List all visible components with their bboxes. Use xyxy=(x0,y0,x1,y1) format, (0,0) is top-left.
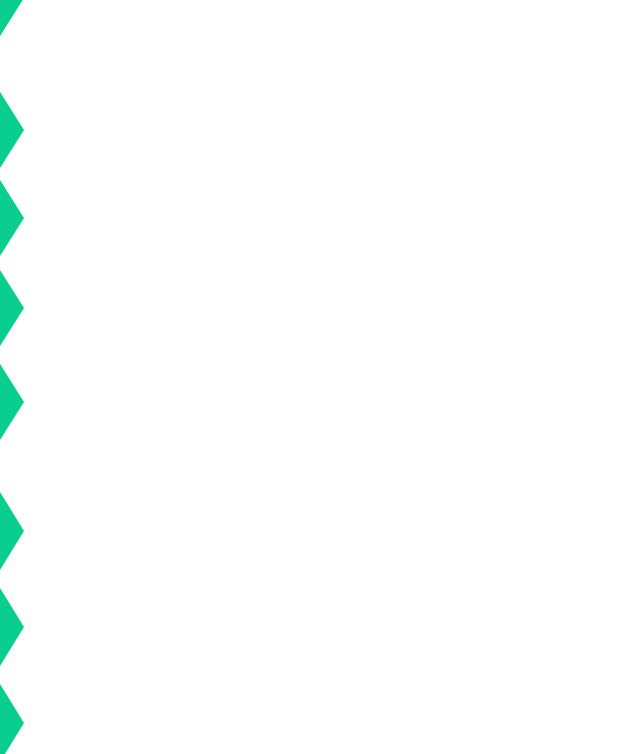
chevron-right-icon xyxy=(0,684,24,754)
chevron-right-icon xyxy=(0,588,24,666)
content-area xyxy=(26,0,618,754)
chevron-strip xyxy=(0,0,26,754)
chevron-shape xyxy=(0,0,24,36)
chevron-right-icon xyxy=(0,364,24,440)
chevron-right-icon xyxy=(0,270,24,346)
chevron-shape xyxy=(0,270,24,346)
chevron-right-icon xyxy=(0,492,24,570)
chevron-shape xyxy=(0,588,24,666)
chevron-right-icon xyxy=(0,0,24,36)
chevron-right-icon xyxy=(0,180,24,256)
chevron-shape xyxy=(0,492,24,570)
chevron-shape xyxy=(0,92,24,168)
chevron-shape xyxy=(0,684,24,754)
chevron-shape xyxy=(0,180,24,256)
page-canvas xyxy=(0,0,618,754)
chevron-shape xyxy=(0,364,24,440)
chevron-right-icon xyxy=(0,92,24,168)
